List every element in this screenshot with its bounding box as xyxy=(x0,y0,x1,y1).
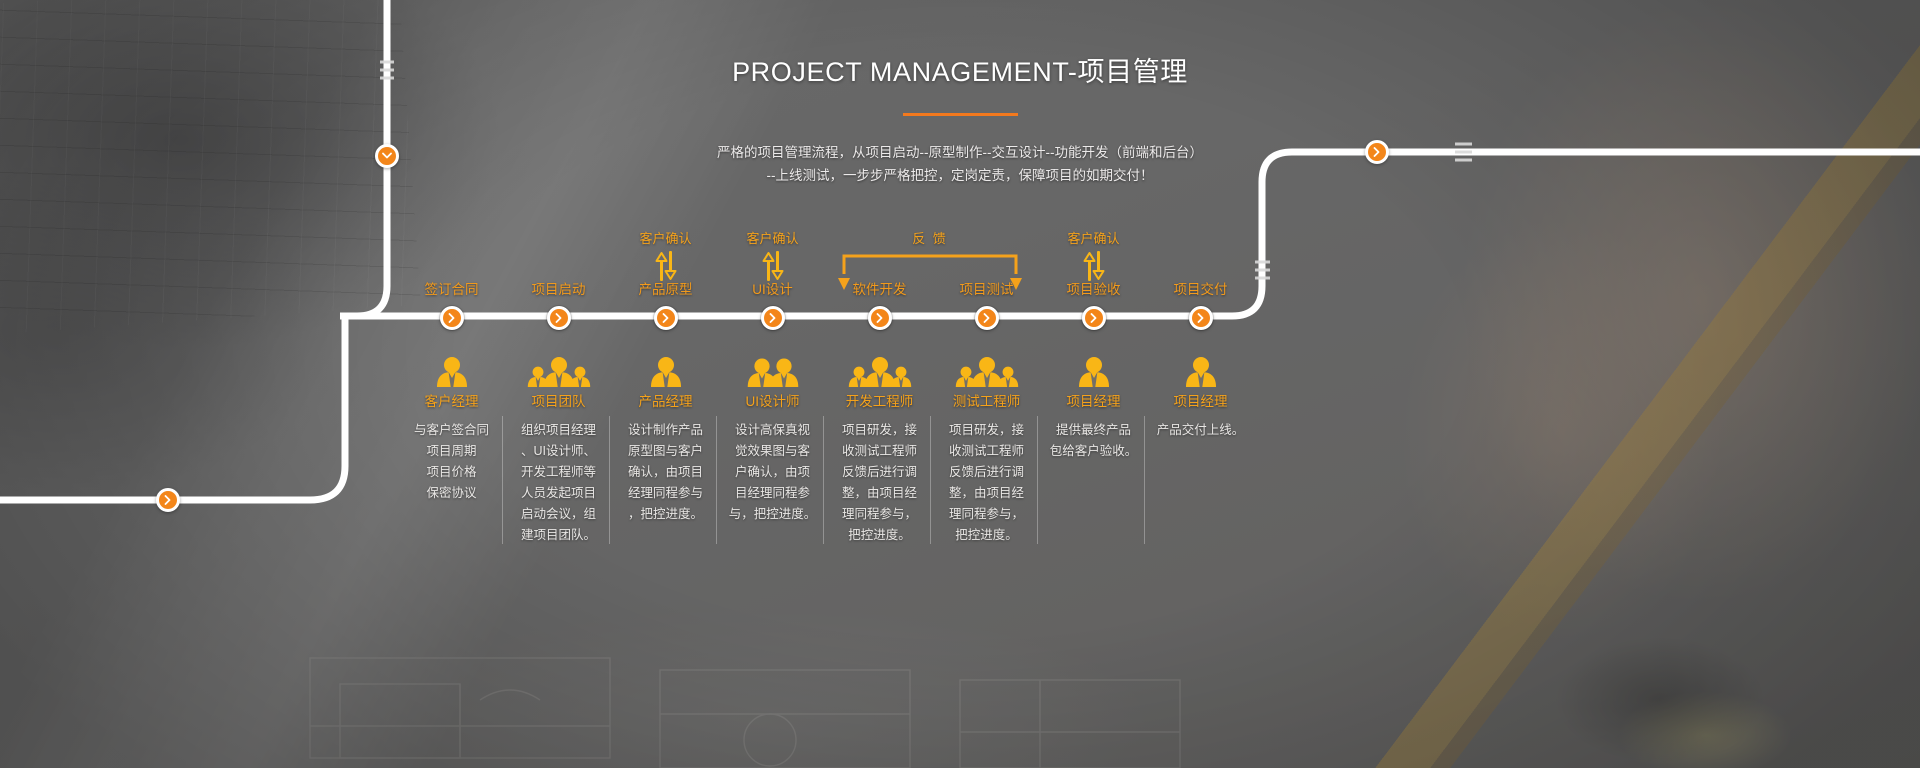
timeline-step: 软件开发 开发工程师 项目研发，接收测试工程师反馈后进行调整，由项目经理同程参与… xyxy=(826,228,933,558)
step-node-4[interactable] xyxy=(761,306,785,330)
description-line: 反馈后进行调 xyxy=(937,462,1036,483)
step-node-2[interactable] xyxy=(547,306,571,330)
path-node-left[interactable] xyxy=(156,488,180,512)
chevron-right-icon xyxy=(983,313,991,323)
step-description: 产品交付上线。 xyxy=(1143,420,1258,441)
step-description: 设计高保真视觉效果图与客户确认，由项目经理同程参与，把控进度。 xyxy=(715,420,830,525)
person-single-icon xyxy=(1040,343,1147,389)
subtitle-line-1: 严格的项目管理流程，从项目启动--原型制作--交互设计--功能开发（前端和后台） xyxy=(0,141,1920,164)
chevron-right-icon xyxy=(164,495,172,505)
description-line: 把控进度。 xyxy=(830,525,929,546)
step-description: 与客户签合同项目周期项目价格保密协议 xyxy=(394,420,509,504)
timeline-step: 客户确认 项目验收 项目经理 提供最终产品包给客户验收。 xyxy=(1040,228,1147,558)
page-title: PROJECT MANAGEMENT-项目管理 xyxy=(0,50,1920,89)
confirm-label-wrap: 客户确认 xyxy=(1040,228,1147,281)
confirm-label: 客户确认 xyxy=(719,228,826,247)
up-down-arrows-icon xyxy=(1081,251,1107,281)
chevron-right-icon xyxy=(555,313,563,323)
description-line: 经理同程参与 xyxy=(616,483,715,504)
chevron-right-icon xyxy=(448,313,456,323)
step-node-8[interactable] xyxy=(1189,306,1213,330)
timeline-step: 签订合同 客户经理 与客户签合同项目周期项目价格保密协议 xyxy=(398,228,505,558)
description-line: 觉效果图与客 xyxy=(723,441,822,462)
step-description: 组织项目经理、UI设计师、开发工程师等人员发起项目启动会议，组建项目团队。 xyxy=(501,420,616,546)
description-line: 产品交付上线。 xyxy=(1151,420,1250,441)
description-line: 把控进度。 xyxy=(937,525,1036,546)
description-line: 户确认，由项 xyxy=(723,462,822,483)
timeline-step: 客户确认 UI设计 UI设计师 设计高保真视觉效果图与客户确认，由项目经理同程参… xyxy=(719,228,826,558)
description-line: 提供最终产品 xyxy=(1044,420,1143,441)
description-line: 目经理同程参 xyxy=(723,483,822,504)
step-title: 项目交付 xyxy=(1135,278,1266,298)
description-line: 项目研发，接 xyxy=(937,420,1036,441)
step-node-6[interactable] xyxy=(975,306,999,330)
chevron-right-icon xyxy=(1197,313,1205,323)
up-down-arrows-icon xyxy=(653,251,679,281)
description-line: 建项目团队。 xyxy=(509,525,608,546)
subtitle-line-2: --上线测试，一步步严格把控，定岗定责，保障项目的如期交付！ xyxy=(0,164,1920,187)
timeline-step: 项目启动 项目团队 组织项目经理、UI设计师、开发工程师等人员发起项目启动会议，… xyxy=(505,228,612,558)
person-group-three-icon xyxy=(826,343,933,389)
description-line: 原型图与客户 xyxy=(616,441,715,462)
person-single-icon xyxy=(398,343,505,389)
description-line: 项目价格 xyxy=(402,462,501,483)
description-line: 收测试工程师 xyxy=(937,441,1036,462)
step-node-3[interactable] xyxy=(654,306,678,330)
description-line: ，把控进度。 xyxy=(616,504,715,525)
description-line: 开发工程师等 xyxy=(509,462,608,483)
step-node-5[interactable] xyxy=(868,306,892,330)
description-line: 包给客户验收。 xyxy=(1044,441,1143,462)
chevron-right-icon xyxy=(1090,313,1098,323)
step-node-7[interactable] xyxy=(1082,306,1106,330)
person-group-two-icon xyxy=(719,343,826,389)
timeline-step: 项目交付 项目经理 产品交付上线。 xyxy=(1147,228,1254,558)
description-line: 整，由项目经 xyxy=(937,483,1036,504)
description-line: 保密协议 xyxy=(402,483,501,504)
step-description: 项目研发，接收测试工程师反馈后进行调整，由项目经理同程参与，把控进度。 xyxy=(929,420,1044,546)
description-line: 收测试工程师 xyxy=(830,441,929,462)
timeline-step: 客户确认 产品原型 产品经理 设计制作产品原型图与客户确认，由项目经理同程参与，… xyxy=(612,228,719,558)
description-line: 理同程参与， xyxy=(937,504,1036,525)
confirm-arrows xyxy=(612,251,719,281)
step-description: 提供最终产品包给客户验收。 xyxy=(1036,420,1151,462)
person-group-three-icon xyxy=(505,343,612,389)
description-line: 反馈后进行调 xyxy=(830,462,929,483)
confirm-label-wrap: 客户确认 xyxy=(612,228,719,281)
person-single-icon xyxy=(612,343,719,389)
person-single-icon xyxy=(1147,343,1254,389)
title-underline xyxy=(903,113,1018,116)
chevron-right-icon xyxy=(769,313,777,323)
description-line: 项目研发，接 xyxy=(830,420,929,441)
header: PROJECT MANAGEMENT-项目管理 严格的项目管理流程，从项目启动-… xyxy=(0,50,1920,187)
step-node-1[interactable] xyxy=(440,306,464,330)
confirm-arrows xyxy=(1040,251,1147,281)
step-description: 设计制作产品原型图与客户确认，由项目经理同程参与，把控进度。 xyxy=(608,420,723,525)
description-line: 组织项目经理 xyxy=(509,420,608,441)
confirm-label: 客户确认 xyxy=(1040,228,1147,247)
description-line: 项目周期 xyxy=(402,441,501,462)
description-line: 与客户签合同 xyxy=(402,420,501,441)
page-subtitle: 严格的项目管理流程，从项目启动--原型制作--交互设计--功能开发（前端和后台）… xyxy=(0,141,1920,187)
description-line: 设计制作产品 xyxy=(616,420,715,441)
timeline-step: 项目测试 测试工程师 项目研发，接收测试工程师反馈后进行调整，由项目经理同程参与… xyxy=(933,228,1040,558)
step-role: 项目经理 xyxy=(1133,390,1268,410)
description-line: 整，由项目经 xyxy=(830,483,929,504)
timeline-steps: 签订合同 客户经理 与客户签合同项目周期项目价格保密协议 项目启动 项目团队 组… xyxy=(398,228,1516,558)
chevron-right-icon xyxy=(876,313,884,323)
chevron-right-icon xyxy=(662,313,670,323)
step-description: 项目研发，接收测试工程师反馈后进行调整，由项目经理同程参与，把控进度。 xyxy=(822,420,937,546)
description-line: 启动会议，组 xyxy=(509,504,608,525)
description-line: 、UI设计师、 xyxy=(509,441,608,462)
confirm-arrows xyxy=(719,251,826,281)
confirm-label: 客户确认 xyxy=(612,228,719,247)
person-group-three-icon xyxy=(933,343,1040,389)
description-line: 与，把控进度。 xyxy=(723,504,822,525)
description-line: 人员发起项目 xyxy=(509,483,608,504)
confirm-label-wrap: 客户确认 xyxy=(719,228,826,281)
up-down-arrows-icon xyxy=(760,251,786,281)
description-line: 理同程参与， xyxy=(830,504,929,525)
description-line: 确认，由项目 xyxy=(616,462,715,483)
description-line: 设计高保真视 xyxy=(723,420,822,441)
